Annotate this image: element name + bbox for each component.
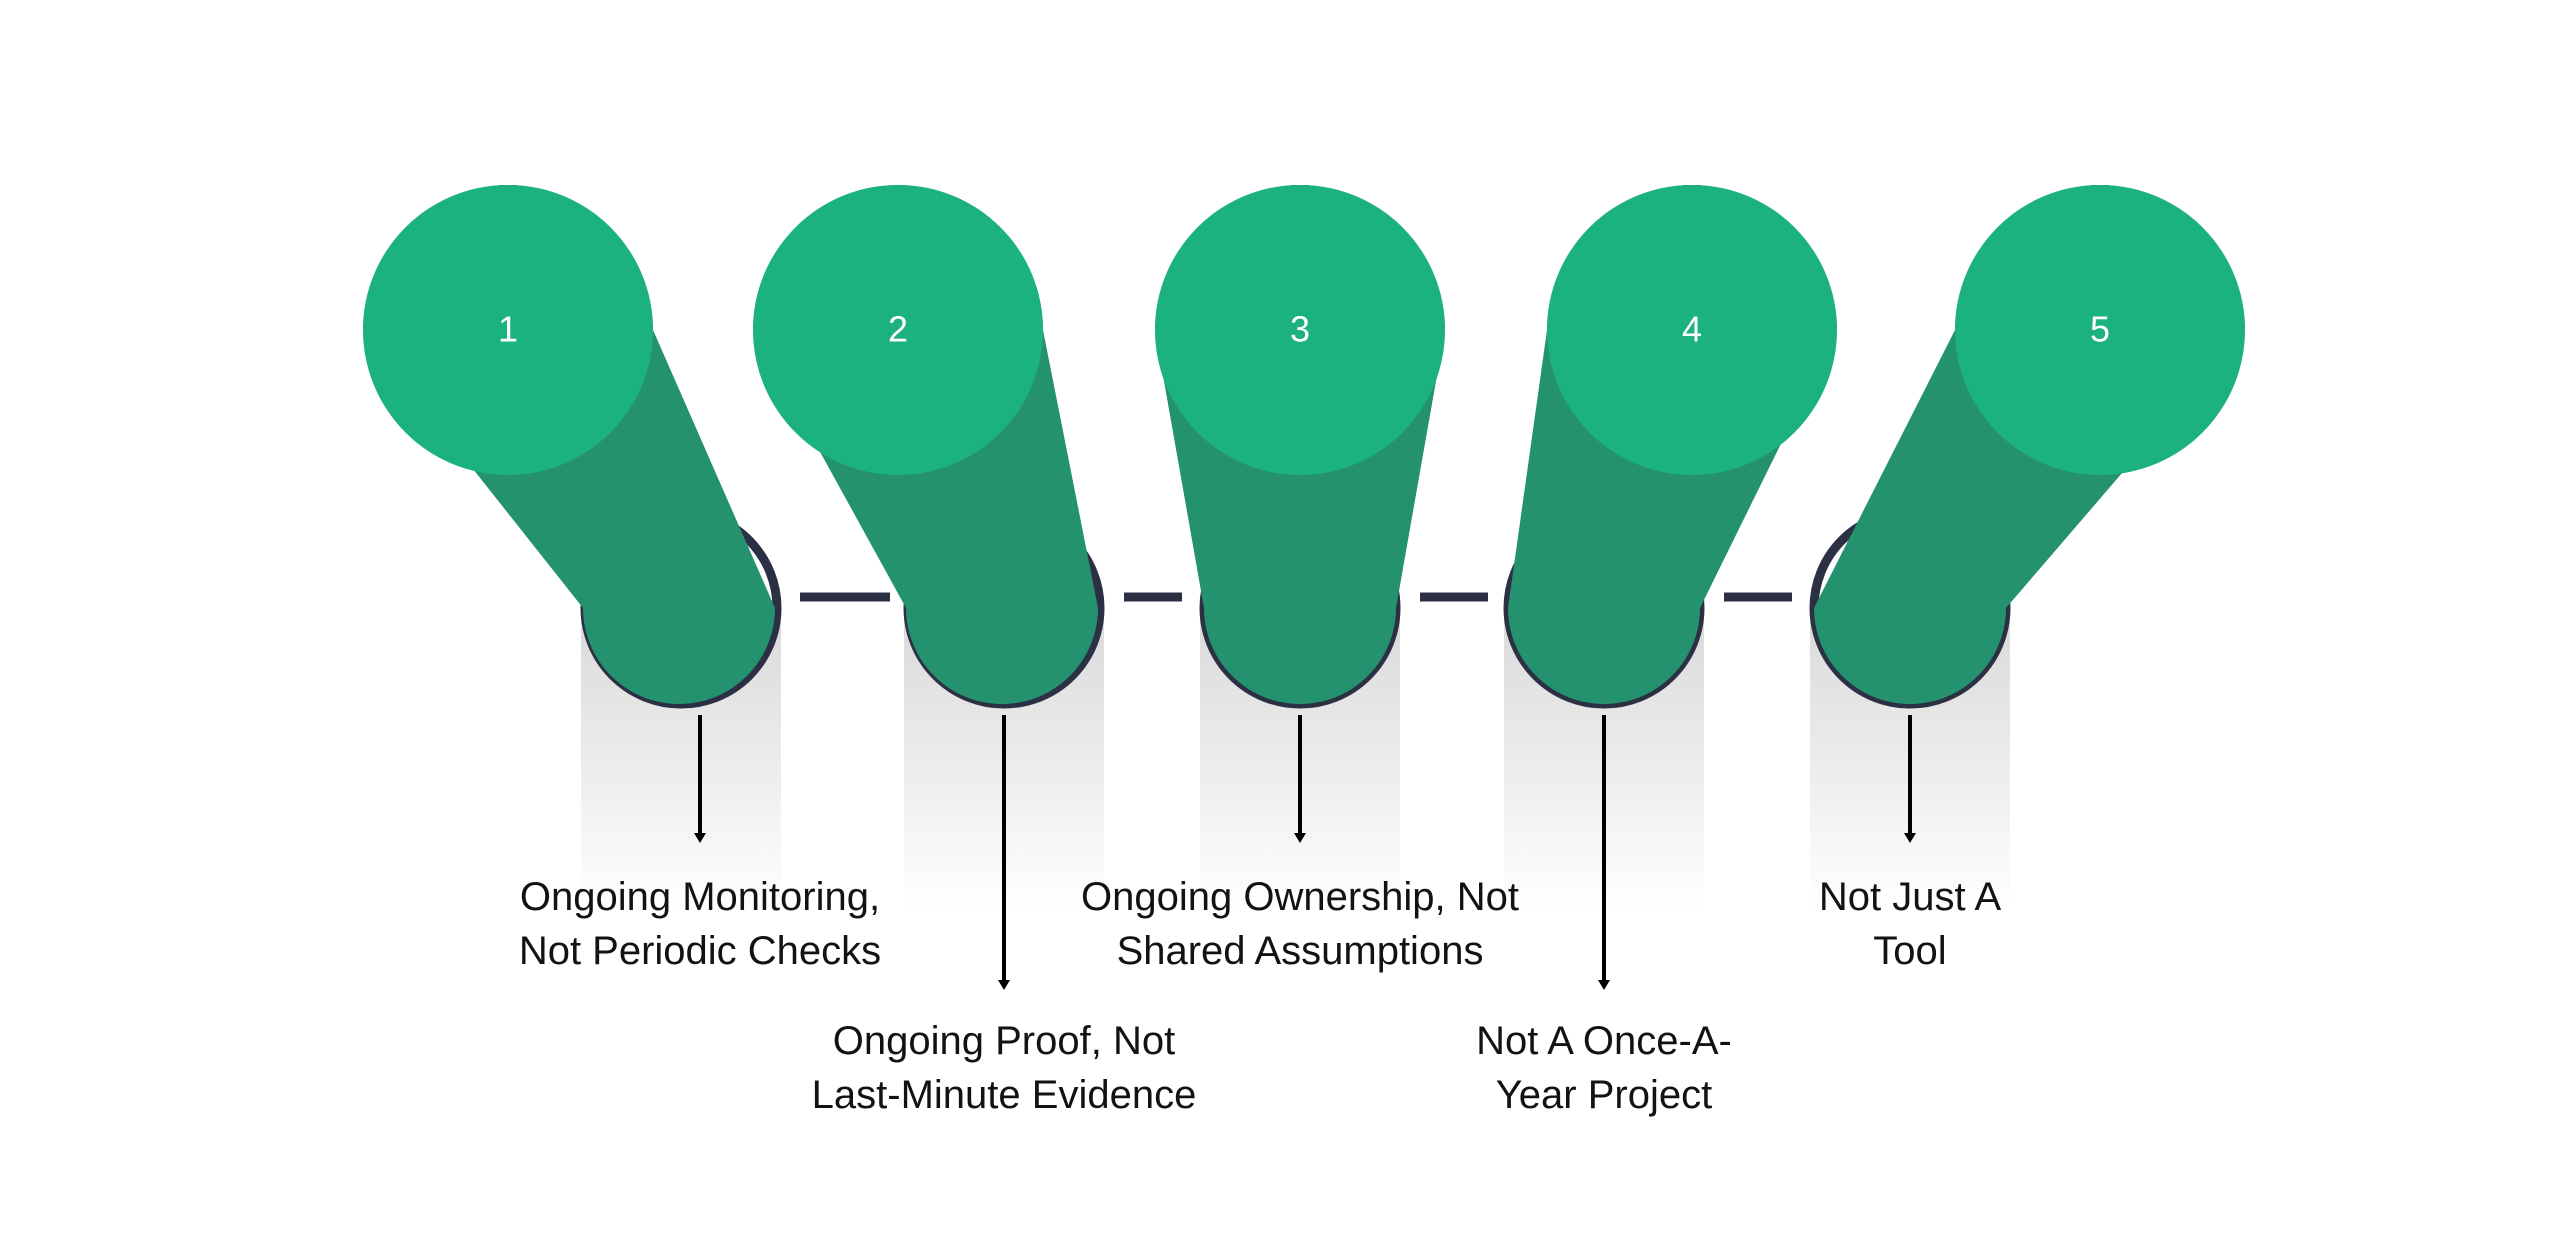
tube-4-number: 4 (1682, 309, 1702, 350)
step-label-2-line2: Last-Minute Evidence (812, 1073, 1197, 1117)
step-label-5: Not Just A Tool (1819, 875, 2002, 973)
step-label-3-line1: Ongoing Ownership, Not (1081, 875, 1519, 919)
tube-3-number: 3 (1290, 309, 1310, 350)
step-label-2-line1: Ongoing Proof, Not (833, 1019, 1175, 1063)
tube-5-number: 5 (2090, 309, 2110, 350)
infographic-canvas: 1 2 3 4 5 (0, 0, 2560, 1239)
step-label-2: Ongoing Proof, Not Last-Minute Evidence (812, 1019, 1197, 1117)
step-label-5-line1: Not Just A (1819, 875, 2002, 919)
tube-2[interactable]: 2 (753, 185, 1098, 704)
label-group: Ongoing Monitoring, Not Periodic Checks … (519, 875, 2002, 1117)
step-label-1-line1: Ongoing Monitoring, (520, 875, 880, 919)
steps-diagram: 1 2 3 4 5 (0, 0, 2560, 1239)
tube-3[interactable]: 3 (1155, 185, 1445, 704)
step-label-3: Ongoing Ownership, Not Shared Assumption… (1081, 875, 1519, 973)
tube-1[interactable]: 1 (363, 185, 775, 704)
step-label-4-line2: Year Project (1496, 1073, 1712, 1117)
step-label-1-line2: Not Periodic Checks (519, 929, 881, 973)
tube-2-number: 2 (888, 309, 908, 350)
step-label-4-line1: Not A Once-A- (1476, 1019, 1732, 1063)
step-label-4: Not A Once-A- Year Project (1476, 1019, 1732, 1117)
tube-4[interactable]: 4 (1508, 185, 1837, 704)
tube-1-number: 1 (498, 309, 518, 350)
step-label-3-line2: Shared Assumptions (1117, 929, 1484, 973)
step-label-5-line2: Tool (1873, 929, 1946, 973)
step-label-1: Ongoing Monitoring, Not Periodic Checks (519, 875, 881, 973)
tube-5[interactable]: 5 (1814, 185, 2245, 704)
